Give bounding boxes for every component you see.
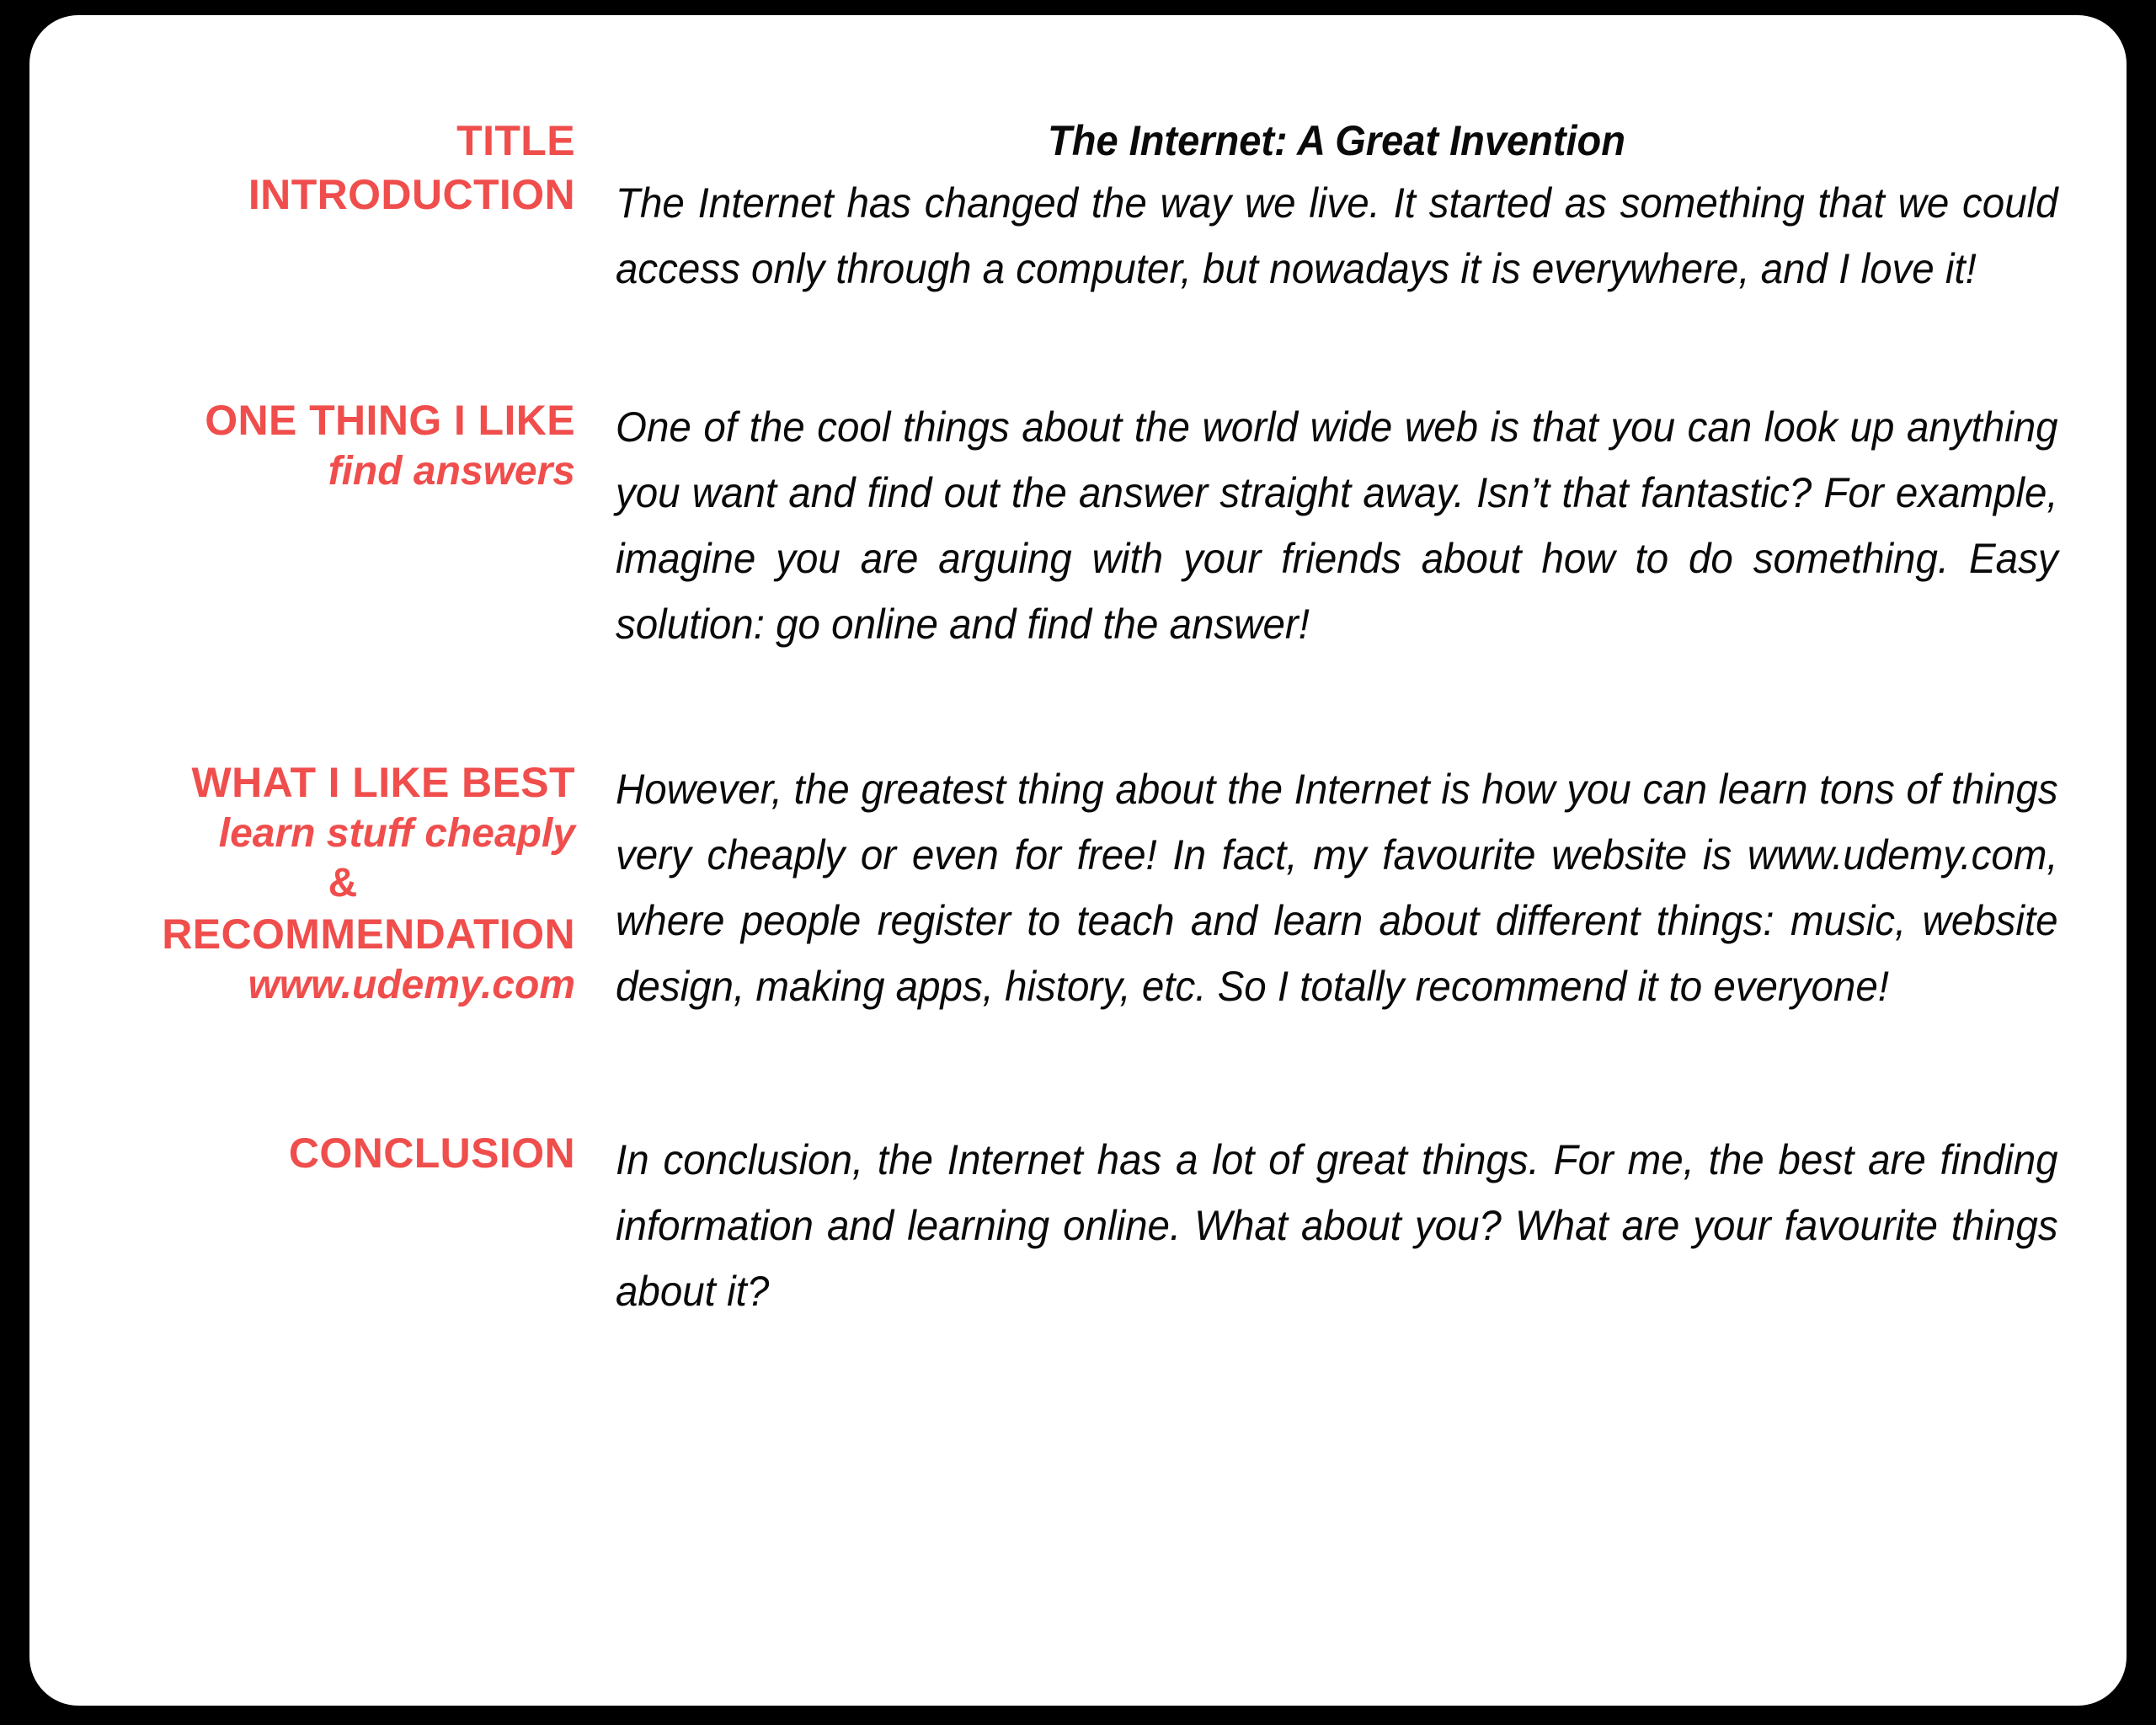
essay-sheet: TITLE INTRODUCTION The Internet: A Great… <box>29 15 2127 1706</box>
introduction-body-column: The Internet: A Great Invention The Inte… <box>616 115 2064 302</box>
label-recommendation: RECOMMENDATION <box>110 908 575 960</box>
paragraph-one-thing: One of the cool things about the world w… <box>616 394 2058 657</box>
paragraph-conclusion: In conclusion, the Internet has a lot of… <box>616 1127 2058 1324</box>
one-thing-body-column: One of the cool things about the world w… <box>616 394 2064 657</box>
best-body-column: However, the greatest thing about the In… <box>616 756 2064 1019</box>
section-one-thing-i-like: ONE THING I LIKE find answers One of the… <box>110 394 2064 657</box>
conclusion-label-column: CONCLUSION <box>110 1127 616 1179</box>
essay-title: The Internet: A Great Invention <box>659 115 2014 167</box>
paragraph-what-i-like-best: However, the greatest thing about the In… <box>616 756 2058 1019</box>
page-root: TITLE INTRODUCTION The Internet: A Great… <box>0 0 2156 1725</box>
label-find-answers: find answers <box>110 446 575 497</box>
label-one-thing-i-like: ONE THING I LIKE <box>110 394 575 446</box>
one-thing-label-column: ONE THING I LIKE find answers <box>110 394 616 497</box>
label-title: TITLE <box>110 115 575 167</box>
label-introduction: INTRODUCTION <box>110 167 575 222</box>
label-conclusion: CONCLUSION <box>110 1127 575 1179</box>
section-what-i-like-best: WHAT I LIKE BEST learn stuff cheaply & R… <box>110 756 2064 1019</box>
conclusion-body-column: In conclusion, the Internet has a lot of… <box>616 1127 2064 1324</box>
introduction-label-column: TITLE INTRODUCTION <box>110 115 616 222</box>
section-introduction: TITLE INTRODUCTION The Internet: A Great… <box>110 115 2064 302</box>
label-ampersand: & <box>110 859 575 908</box>
label-learn-stuff-cheaply: learn stuff cheaply <box>110 809 575 859</box>
essay-card: TITLE INTRODUCTION The Internet: A Great… <box>29 15 2127 1706</box>
label-udemy-url: www.udemy.com <box>110 960 575 1011</box>
section-conclusion: CONCLUSION In conclusion, the Internet h… <box>110 1127 2064 1324</box>
label-what-i-like-best: WHAT I LIKE BEST <box>110 756 575 809</box>
paragraph-introduction: The Internet has changed the way we live… <box>616 170 2058 302</box>
best-label-column: WHAT I LIKE BEST learn stuff cheaply & R… <box>110 756 616 1011</box>
